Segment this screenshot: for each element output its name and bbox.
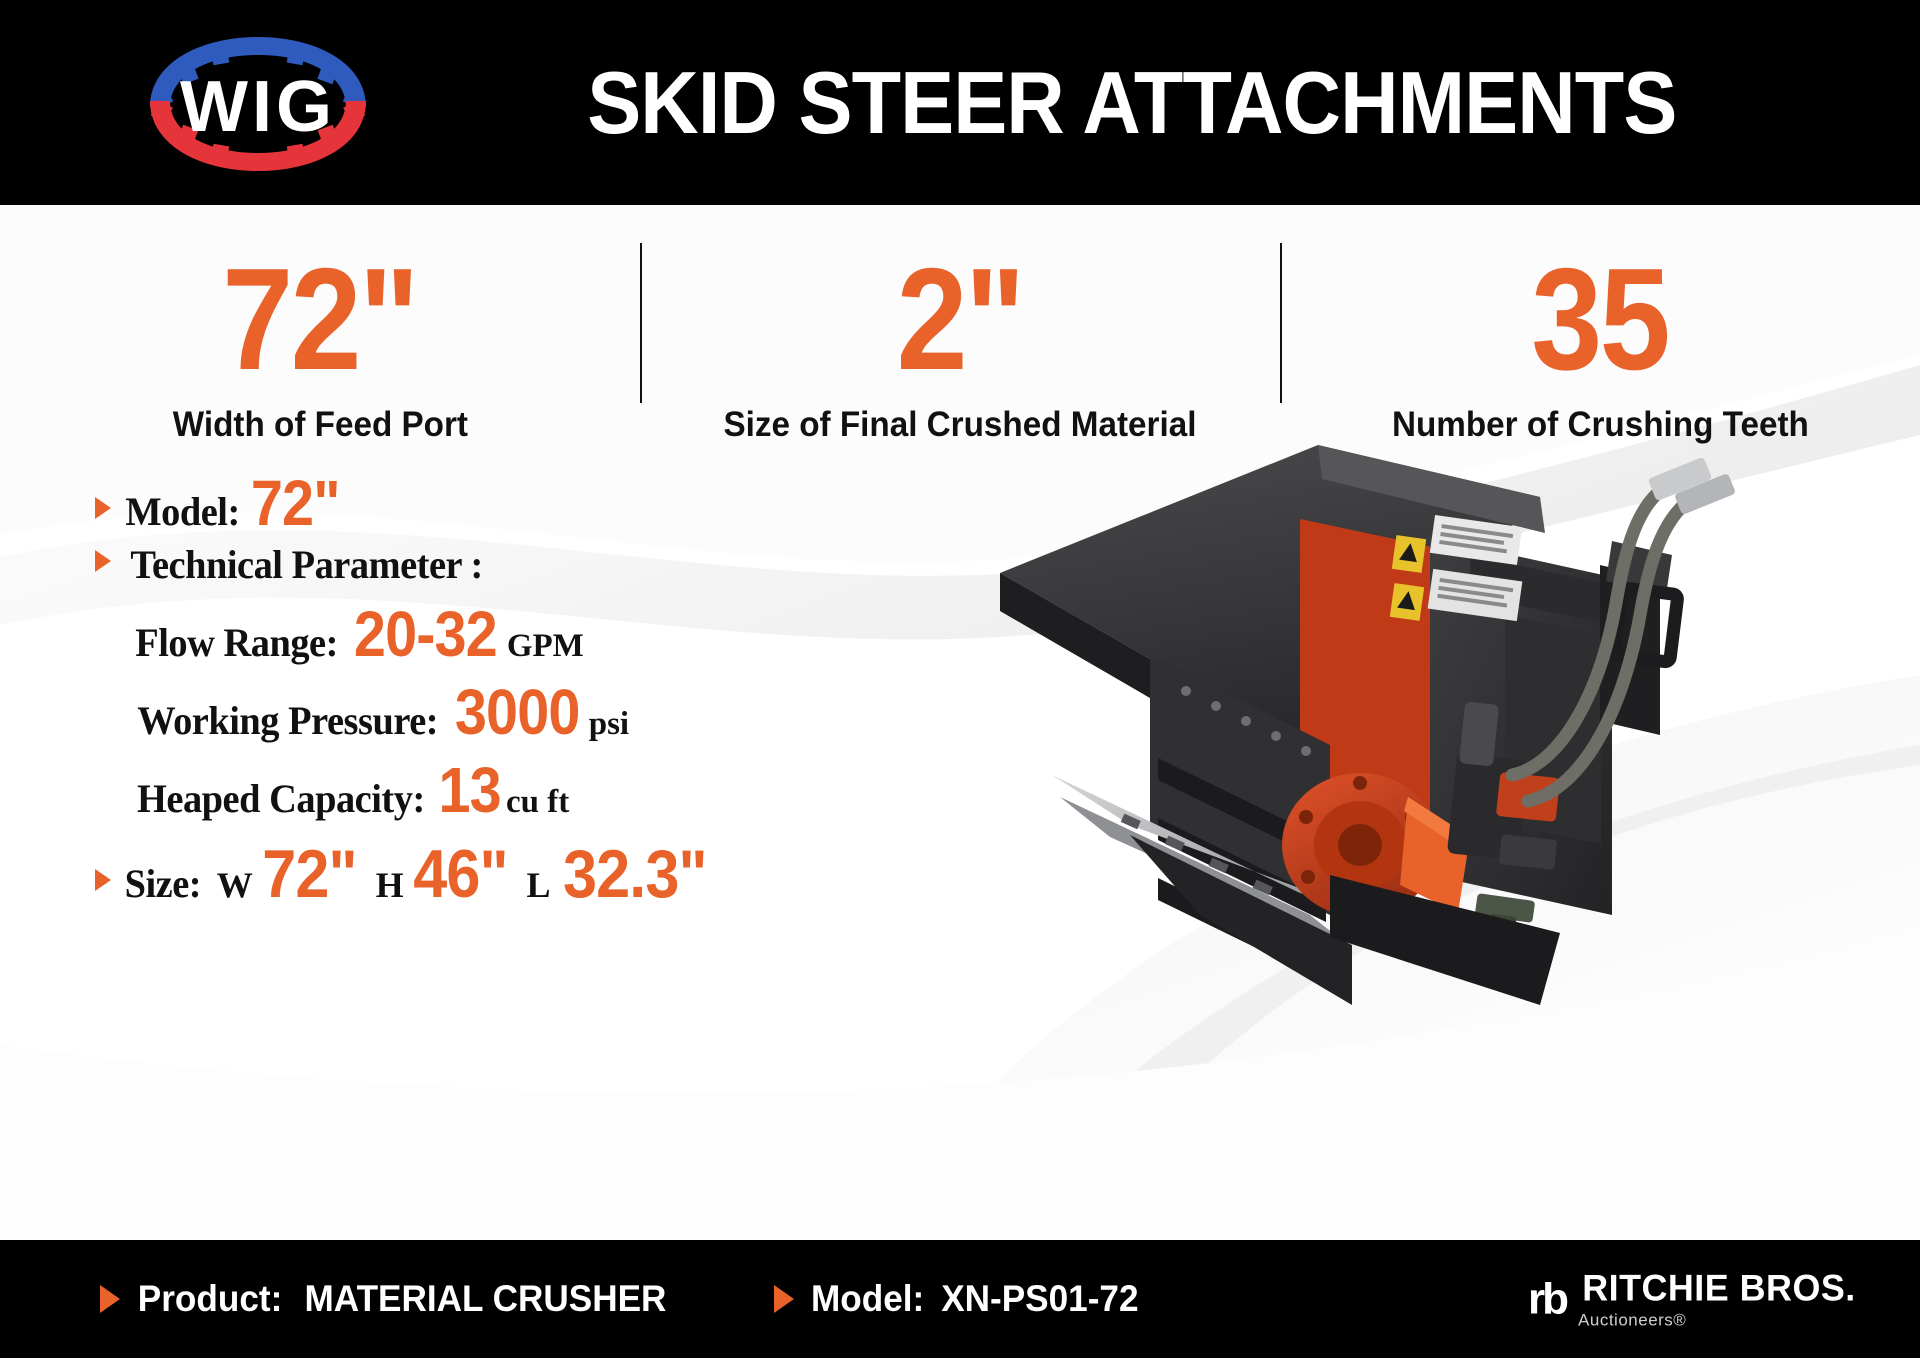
- stat-value: 72": [223, 251, 418, 389]
- stat-label: Width of Feed Port: [172, 405, 467, 445]
- spec-working-pressure: Working Pressure: 3000 psi: [131, 684, 955, 744]
- rb-monogram-icon: rb: [1528, 1274, 1566, 1324]
- spec-key: Size:: [125, 860, 202, 907]
- stat-label: Size of Final Crushed Material: [723, 405, 1196, 445]
- size-letter-l: L: [526, 864, 550, 906]
- param-key: Flow Range:: [135, 619, 338, 666]
- param-value: 3000: [455, 684, 580, 742]
- stat-size-of-final-crushed-material: 2" Size of Final Crushed Material: [640, 225, 1280, 445]
- param-value: 13: [438, 762, 500, 820]
- spec-sheet: WIG SKID STEER ATTACHMENTS: [0, 0, 1920, 1358]
- footer-bar: Product: MATERIAL CRUSHER Model: XN-PS01…: [0, 1240, 1920, 1358]
- size-letter-w: W: [217, 864, 253, 906]
- param-unit: cu ft: [506, 784, 569, 821]
- spec-value: 72": [251, 475, 340, 533]
- spec-size: Size: W 72" H 46" L 32.3": [95, 844, 955, 907]
- param-key: Heaped Capacity:: [137, 775, 425, 822]
- param-unit: psi: [589, 706, 629, 743]
- size-value-l: 32.3": [562, 844, 706, 905]
- ritchie-bros-logo: rb RITCHIE BROS. Auctioneers®: [1528, 1270, 1860, 1329]
- footer-product-key: Product:: [138, 1278, 283, 1320]
- param-unit: GPM: [507, 628, 584, 665]
- triangle-bullet-icon: [100, 1285, 120, 1313]
- footer-product-value: MATERIAL CRUSHER: [305, 1278, 667, 1320]
- stat-label: Number of Crushing Teeth: [1392, 405, 1809, 445]
- triangle-bullet-icon: [774, 1285, 794, 1313]
- footer-model-key: Model:: [811, 1278, 924, 1320]
- stat-width-of-feed-port: 72" Width of Feed Port: [0, 225, 640, 445]
- param-value: 20-32: [354, 606, 497, 664]
- specifications-list: Model: 72" Technical Parameter : Flow Ra…: [95, 475, 955, 907]
- wig-logo-text: WIG: [180, 67, 336, 147]
- wig-logo: WIG: [108, 15, 408, 190]
- size-value-h: 46": [413, 844, 507, 905]
- stat-number-of-crushing-teeth: 35 Number of Crushing Teeth: [1280, 225, 1920, 445]
- product-photo-material-crusher: [1000, 445, 1840, 1085]
- key-stats-row: 72" Width of Feed Port 2" Size of Final …: [0, 225, 1920, 445]
- footer-model-value: XN-PS01-72: [941, 1278, 1138, 1320]
- page-title: SKID STEER ATTACHMENTS: [468, 59, 1859, 147]
- spec-key: Model:: [125, 488, 239, 535]
- hose-fittings: [1648, 457, 1736, 515]
- rb-brand-name: RITCHIE BROS.: [1582, 1270, 1856, 1307]
- header-bar: WIG SKID STEER ATTACHMENTS: [0, 0, 1920, 205]
- wig-logo-graphic: WIG: [108, 15, 408, 190]
- spec-model: Model: 72": [95, 475, 955, 535]
- spec-technical-parameter-heading: Technical Parameter :: [95, 541, 955, 588]
- rb-brand-subtitle: Auctioneers®: [1578, 1312, 1860, 1329]
- size-value-w: 72": [262, 844, 356, 905]
- spec-flow-range: Flow Range: 20-32 GPM: [131, 606, 955, 666]
- body-area: 72" Width of Feed Port 2" Size of Final …: [0, 205, 1920, 1245]
- triangle-bullet-icon: [95, 550, 111, 572]
- triangle-bullet-icon: [95, 869, 111, 891]
- stat-value: 2": [897, 251, 1023, 389]
- spec-key: Technical Parameter :: [130, 541, 483, 588]
- footer-model: Model: XN-PS01-72: [774, 1278, 1144, 1320]
- param-key: Working Pressure:: [137, 697, 438, 744]
- footer-product: Product: MATERIAL CRUSHER: [100, 1278, 676, 1320]
- spec-heaped-capacity: Heaped Capacity: 13 cu ft: [131, 762, 955, 822]
- triangle-bullet-icon: [95, 497, 111, 519]
- size-letter-h: H: [376, 864, 404, 906]
- stat-value: 35: [1532, 251, 1669, 389]
